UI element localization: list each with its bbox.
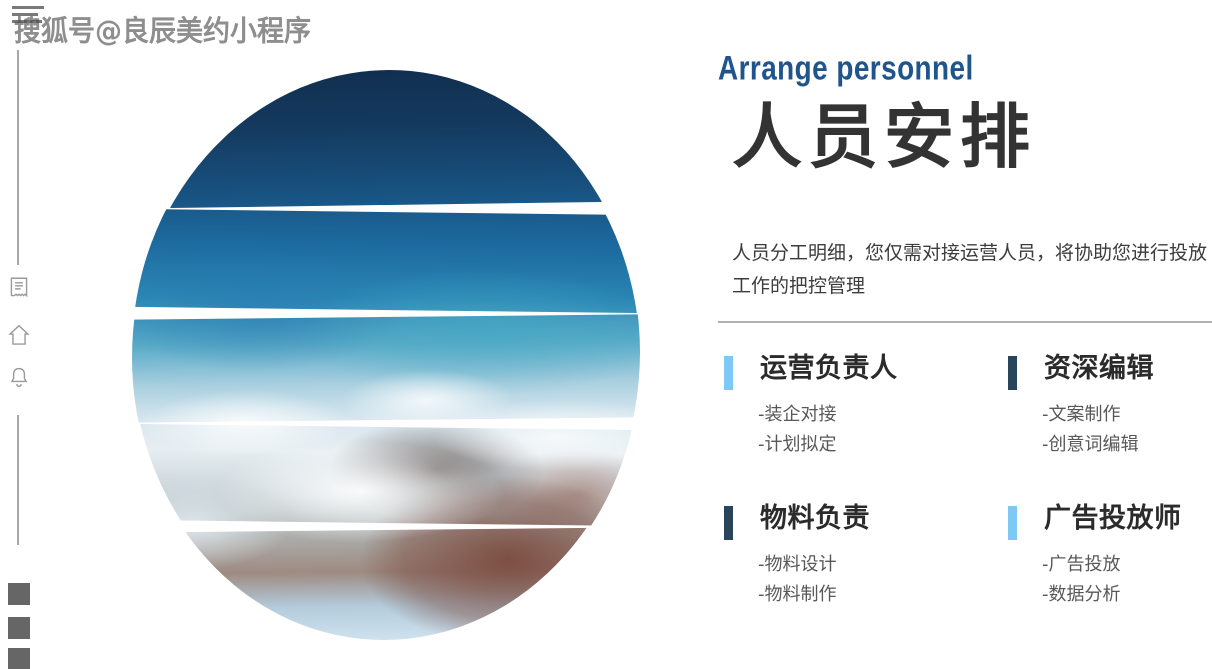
watermark-bars-icon: [12, 6, 46, 28]
photo-slice-5: [132, 527, 640, 644]
eyebrow-title: Arrange personnel: [718, 48, 974, 88]
bell-icon[interactable]: [6, 365, 32, 391]
list-item: -广告投放: [1042, 550, 1212, 580]
rail-square-3[interactable]: [8, 648, 30, 669]
rail-divider-top: [17, 50, 19, 265]
sliced-circle-ocean-photo: [132, 70, 640, 640]
list-item: -计划拟定: [758, 430, 964, 460]
role-card: 运营负责人 -装企对接 -计划拟定: [724, 352, 964, 460]
content-column: Arrange personnel 人员安排 人员分工明细，您仅需对接运营人员，…: [716, 0, 1212, 669]
role-header: 资深编辑: [1008, 352, 1212, 392]
photo-slice-4: [132, 424, 640, 526]
role-accent-bar: [724, 356, 733, 390]
photo-slice-1: [132, 66, 640, 208]
role-card: 广告投放师 -广告投放 -数据分析: [1008, 502, 1212, 610]
slide-canvas: 搜狐号@良辰美约小程序: [0, 0, 1212, 669]
role-subitems: -文案制作 -创意词编辑: [1042, 400, 1212, 460]
role-card: 资深编辑 -文案制作 -创意词编辑: [1008, 352, 1212, 460]
role-subitems: -装企对接 -计划拟定: [758, 400, 964, 460]
description-text: 人员分工明细，您仅需对接运营人员，将协助您进行投放工作的把控管理: [732, 237, 1210, 303]
list-item: -物料制作: [758, 580, 964, 610]
role-accent-bar: [724, 506, 733, 540]
rail-square-2[interactable]: [8, 617, 30, 639]
role-title: 运营负责人: [760, 352, 964, 386]
role-subitems: -广告投放 -数据分析: [1042, 550, 1212, 610]
role-header: 广告投放师: [1008, 502, 1212, 542]
home-icon[interactable]: [6, 322, 32, 348]
role-header: 物料负责: [724, 502, 964, 542]
role-title: 广告投放师: [1044, 502, 1212, 536]
role-accent-bar: [1008, 356, 1017, 390]
list-item: -创意词编辑: [1042, 430, 1212, 460]
list-item: -装企对接: [758, 400, 964, 430]
watermark-text: 搜狐号@良辰美约小程序: [14, 8, 311, 49]
rail-divider-bottom: [17, 415, 19, 545]
photo-slice-3: [132, 314, 640, 422]
role-card: 物料负责 -物料设计 -物料制作: [724, 502, 964, 610]
list-item: -文案制作: [1042, 400, 1212, 430]
role-title: 资深编辑: [1044, 352, 1212, 386]
section-divider: [718, 321, 1212, 323]
role-title: 物料负责: [760, 502, 964, 536]
receipt-icon[interactable]: [6, 275, 32, 301]
photo-slice-2: [132, 209, 640, 313]
list-item: -物料设计: [758, 550, 964, 580]
page-title: 人员安排: [732, 98, 1036, 176]
role-accent-bar: [1008, 506, 1017, 540]
list-item: -数据分析: [1042, 580, 1212, 610]
role-header: 运营负责人: [724, 352, 964, 392]
rail-square-1[interactable]: [8, 583, 30, 605]
role-subitems: -物料设计 -物料制作: [758, 550, 964, 610]
